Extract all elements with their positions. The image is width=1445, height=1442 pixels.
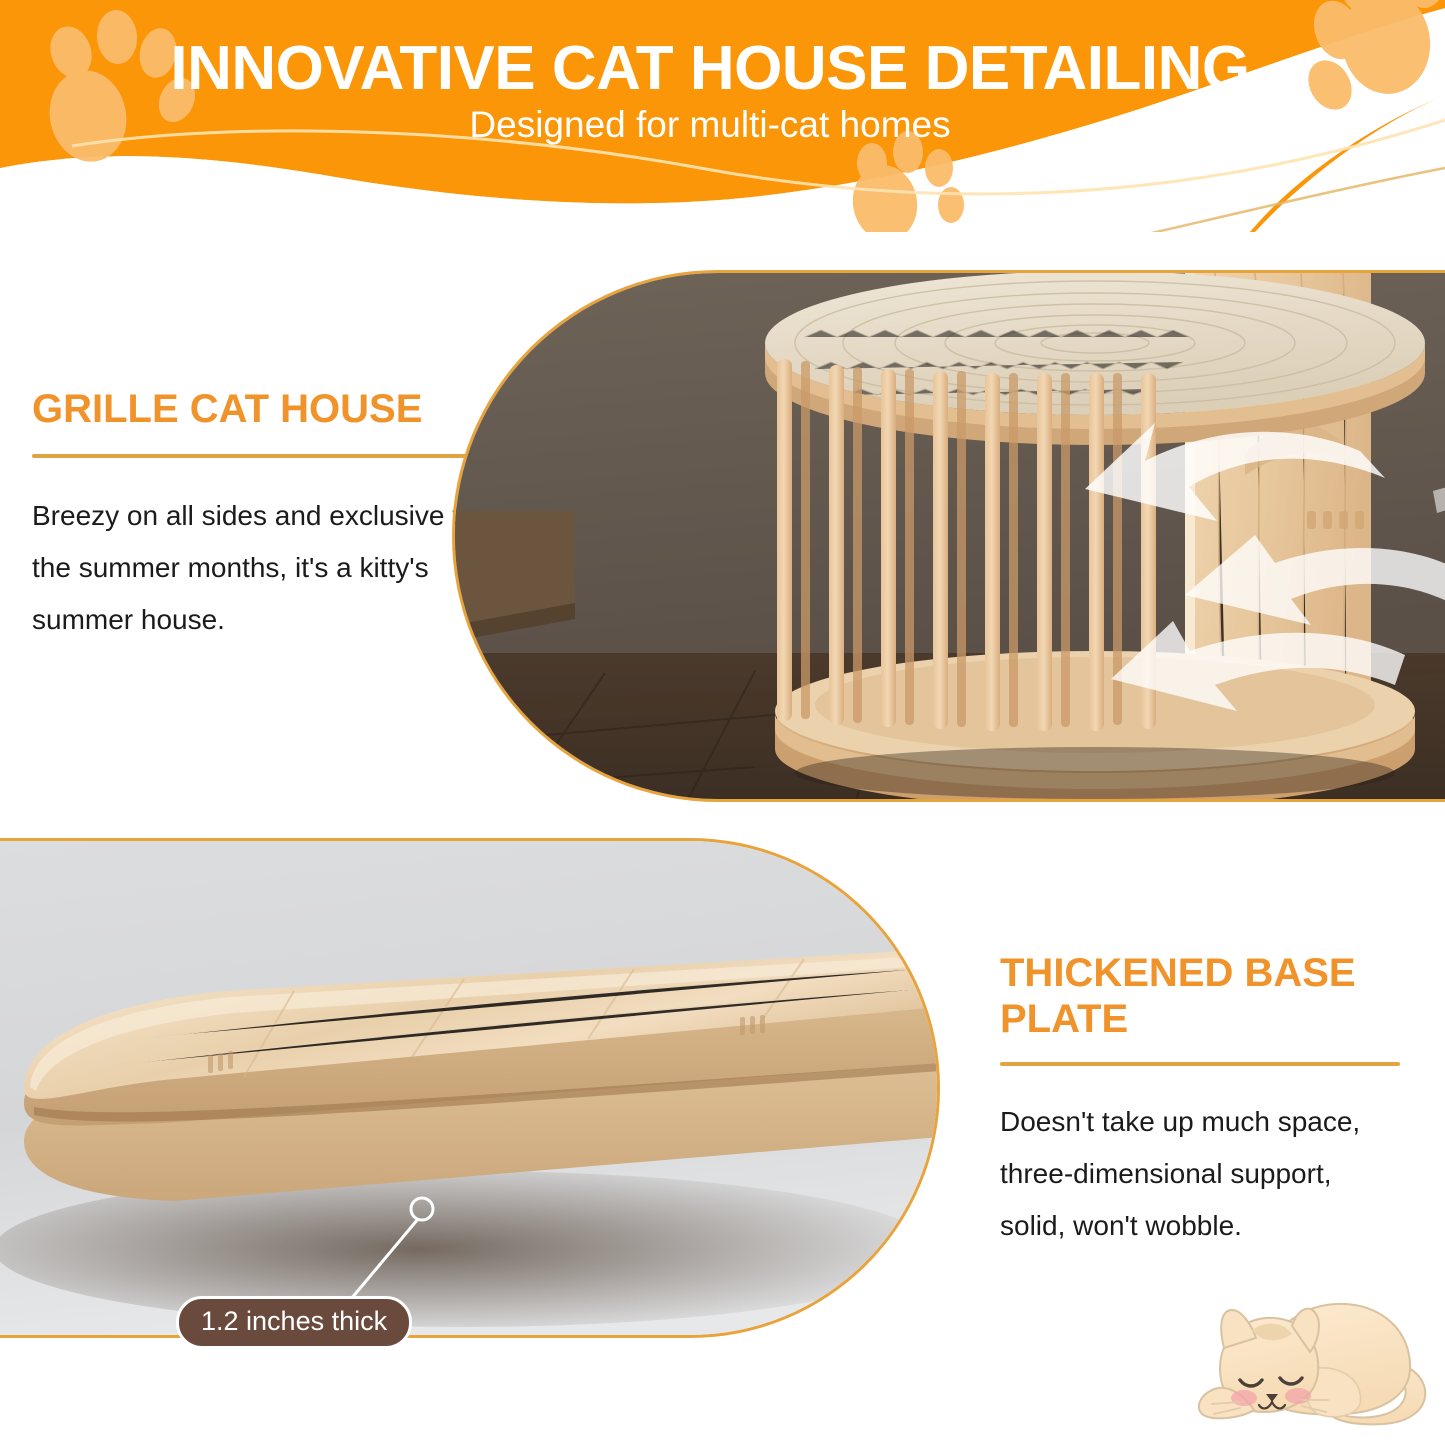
- thickened-base-plate-photo: [0, 838, 940, 1338]
- section-body-base-plate: Doesn't take up much space, three-dimens…: [1000, 1096, 1400, 1252]
- section-heading-grille: GRILLE CAT HOUSE: [32, 386, 492, 432]
- page-subtitle: Designed for multi-cat homes: [0, 104, 1420, 146]
- page-title: INNOVATIVE CAT HOUSE DETAILING: [0, 36, 1420, 102]
- thickness-callout-badge: 1.2 inches thick: [176, 1296, 412, 1349]
- section-thickened-base-plate-text: THICKENED BASE PLATE Doesn't take up muc…: [1000, 950, 1400, 1252]
- grille-cat-house-photo-art: [455, 273, 1445, 802]
- sleeping-cat-illustration: [1168, 1272, 1438, 1432]
- section-body-grille: Breezy on all sides and exclusive to the…: [32, 490, 492, 646]
- grille-cat-house-photo: [452, 270, 1445, 802]
- section-heading-base-plate: THICKENED BASE PLATE: [1000, 950, 1400, 1042]
- heading-divider: [32, 454, 492, 458]
- thickened-base-plate-photo-art: [0, 841, 940, 1338]
- infographic-page: INNOVATIVE CAT HOUSE DETAILING Designed …: [0, 0, 1445, 1442]
- heading-divider: [1000, 1062, 1400, 1066]
- section-grille-cat-house-text: GRILLE CAT HOUSE Breezy on all sides and…: [32, 386, 492, 646]
- header-banner: INNOVATIVE CAT HOUSE DETAILING Designed …: [0, 0, 1445, 232]
